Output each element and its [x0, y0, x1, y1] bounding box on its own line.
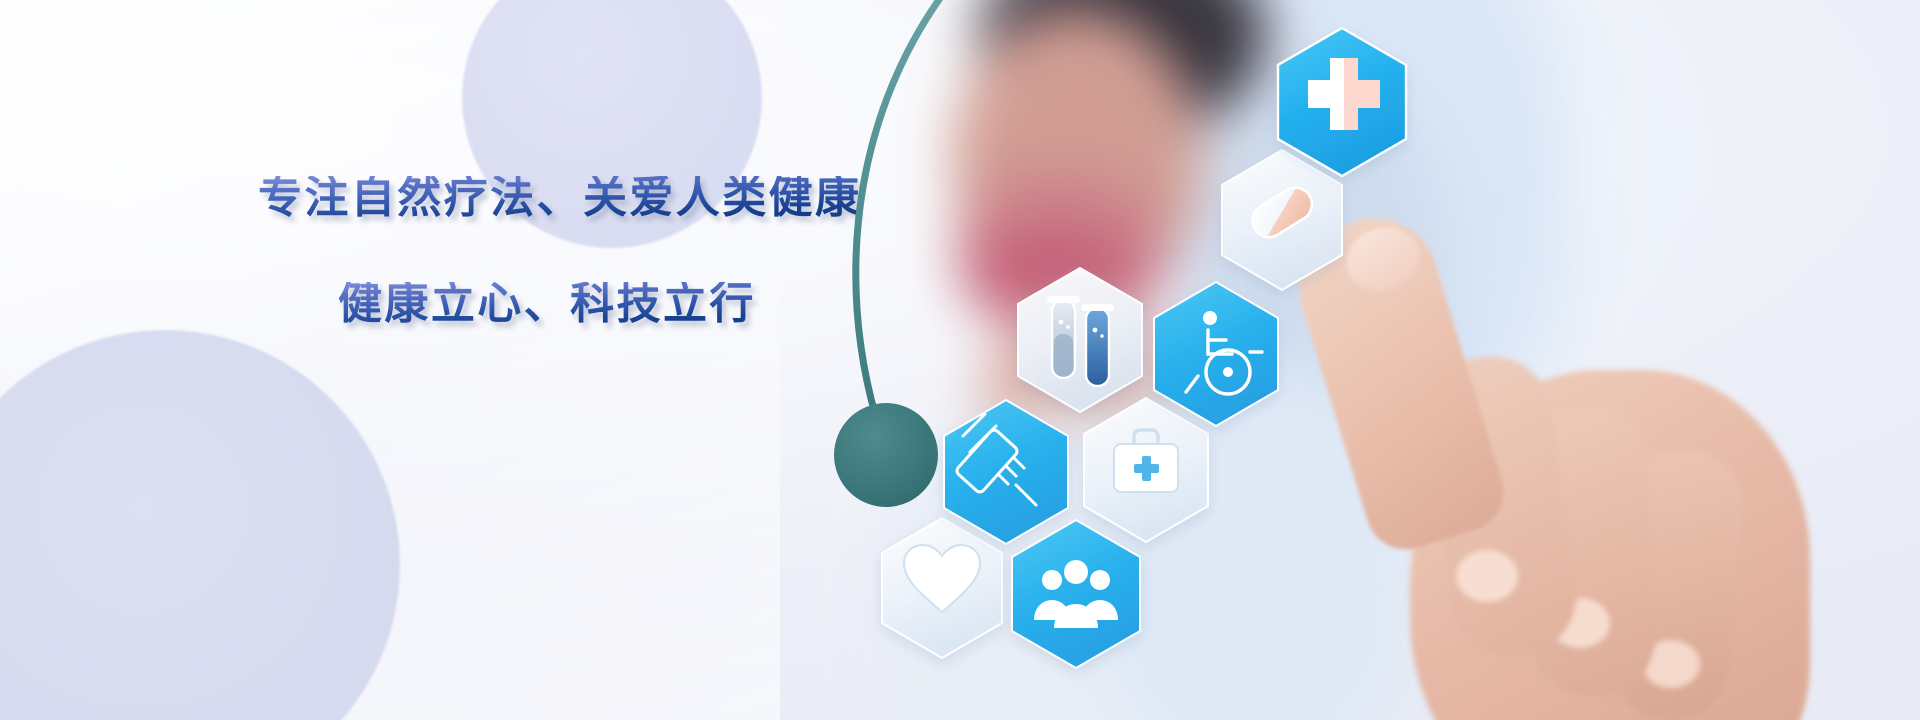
headline-group: 专注自然疗法、关爱人类健康 健康立心、科技立行 — [258, 176, 878, 326]
hexagon-icons-svg — [820, 0, 1920, 720]
headline-primary: 专注自然疗法、关爱人类健康 — [258, 176, 878, 220]
hexagon-pill — [1222, 150, 1342, 290]
hexagon-test-tubes — [1018, 268, 1142, 412]
hexagon-heart — [882, 518, 1002, 658]
hexagon-syringe — [944, 400, 1068, 544]
decorative-circle-bottom — [0, 330, 400, 720]
left-background-wash — [0, 0, 780, 720]
hero-graphic — [820, 0, 1920, 720]
hexagon-people — [1012, 520, 1140, 668]
hexagon-wheelchair — [1154, 282, 1278, 426]
hexagon-cross — [1278, 28, 1406, 176]
hexagon-briefcase — [1084, 398, 1208, 542]
headline-secondary: 健康立心、科技立行 — [338, 282, 878, 326]
hexagon-cluster — [820, 0, 1920, 720]
hero-banner: 专注自然疗法、关爱人类健康 健康立心、科技立行 — [0, 0, 1920, 720]
